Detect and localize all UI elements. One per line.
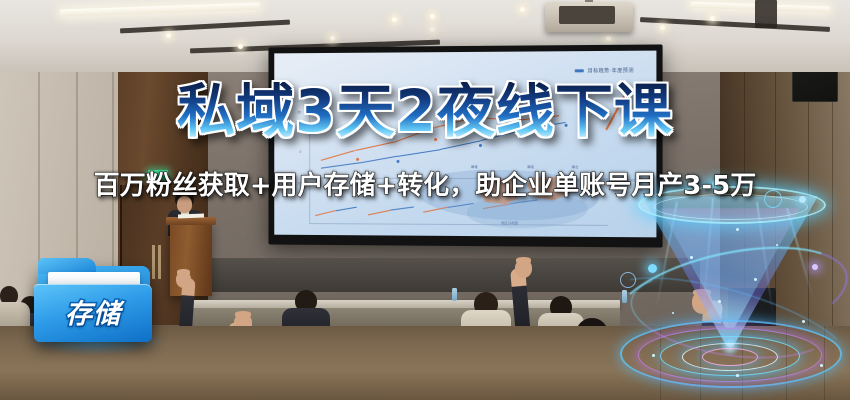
stage-platform [180, 258, 700, 292]
projector-icon [545, 2, 633, 32]
poster-subtitle: 百万粉丝获取+用户存储+转化，助企业单账号月产3-5万 [0, 165, 850, 202]
screen-chart-legend: 目标趋势·年度预测 [574, 67, 633, 74]
storage-badge-label: 存储 [34, 292, 152, 331]
storage-badge[interactable]: 存储 [34, 258, 156, 350]
raised-hand [176, 272, 191, 288]
screen-legend-label: 目标趋势·年度预测 [588, 67, 634, 74]
projection-screen: 目标趋势·年度预测 20 0 [268, 44, 662, 247]
poster-canvas: 目标趋势·年度预测 20 0 [0, 0, 850, 400]
legend-swatch-icon [574, 69, 583, 72]
water-bottle [452, 288, 457, 301]
podium-top [166, 217, 216, 225]
raised-hand [515, 260, 532, 278]
raised-hand [692, 292, 712, 314]
door-handle-icon [158, 245, 161, 279]
water-bottle [622, 290, 627, 303]
poster-title: 私域3天2夜线下课 [0, 82, 850, 140]
